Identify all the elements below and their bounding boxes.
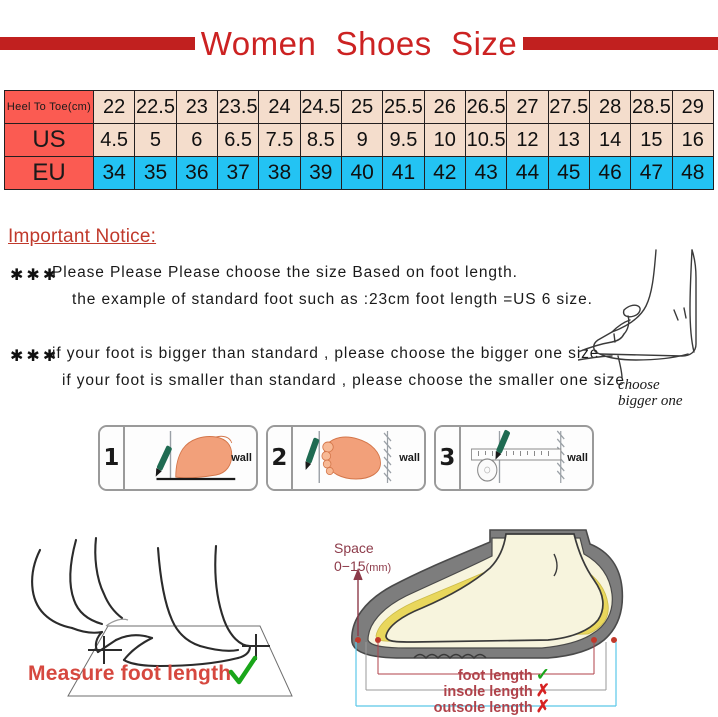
table-cell: 42 xyxy=(424,157,465,190)
table-cell: 28.5 xyxy=(631,91,672,124)
table-cell: 13 xyxy=(548,124,589,157)
table-cell: 46 xyxy=(589,157,630,190)
step-illustration-ruler: wall xyxy=(461,427,592,489)
step-panel-3: 3 xyxy=(434,425,594,491)
table-cell: 27.5 xyxy=(548,91,589,124)
row-header-eu: EU xyxy=(5,157,94,190)
notice-line: if your foot is bigger than standard , p… xyxy=(52,345,599,363)
table-cell: 23.5 xyxy=(217,91,258,124)
step-panel-1: 1 wall xyxy=(98,425,258,491)
step-number: 2 xyxy=(268,427,293,489)
table-cell: 9 xyxy=(341,124,382,157)
space-label-line1: Space xyxy=(334,540,391,558)
choose-bigger-line1: choose xyxy=(618,377,660,393)
table-cell: 48 xyxy=(672,157,713,190)
step-panel-2: 2 xyxy=(266,425,426,491)
table-cell: 40 xyxy=(341,157,382,190)
notice-line: the example of standard foot such as :23… xyxy=(72,291,593,309)
table-cell: 47 xyxy=(631,157,672,190)
step-number: 1 xyxy=(100,427,125,489)
cross-icon: ✗ xyxy=(536,697,550,716)
table-cell: 24.5 xyxy=(300,91,341,124)
table-cell: 7.5 xyxy=(259,124,300,157)
table-cell: 39 xyxy=(300,157,341,190)
step-number: 3 xyxy=(436,427,461,489)
table-cell: 6 xyxy=(176,124,217,157)
table-cell: 9.5 xyxy=(383,124,424,157)
table-row: Heel To Toe(cm) 22 22.5 23 23.5 24 24.5 … xyxy=(5,91,714,124)
table-cell: 10 xyxy=(424,124,465,157)
title-rule-right xyxy=(523,37,718,50)
title-rule-left xyxy=(0,37,195,50)
important-notice-heading: Important Notice: xyxy=(8,226,156,248)
wall-label: wall xyxy=(567,452,588,464)
table-cell: 26.5 xyxy=(465,91,506,124)
table-cell: 41 xyxy=(383,157,424,190)
measurement-steps: 1 wall 2 xyxy=(98,425,594,491)
table-cell: 16 xyxy=(672,124,713,157)
table-cell: 23 xyxy=(176,91,217,124)
space-label-unit: (mm) xyxy=(366,562,392,574)
notice-line: Please Please Please choose the size Bas… xyxy=(52,264,518,282)
table-cell: 8.5 xyxy=(300,124,341,157)
table-cell: 35 xyxy=(135,157,176,190)
page-title: Women Shoes Size xyxy=(195,27,524,60)
table-cell: 25 xyxy=(341,91,382,124)
table-cell: 24 xyxy=(259,91,300,124)
size-conversion-table: Heel To Toe(cm) 22 22.5 23 23.5 24 24.5 … xyxy=(4,90,714,190)
choose-bigger-line2: bigger one xyxy=(618,393,683,409)
table-cell: 26 xyxy=(424,91,465,124)
step-illustration-foot-side: wall xyxy=(125,427,256,489)
space-clearance-label: Space 0−15(mm) xyxy=(334,540,391,575)
page-title-bar: Women Shoes Size xyxy=(0,18,718,68)
row-header-us: US xyxy=(5,124,94,157)
table-cell: 45 xyxy=(548,157,589,190)
table-cell: 28 xyxy=(589,91,630,124)
table-cell: 4.5 xyxy=(94,124,135,157)
wall-label: wall xyxy=(231,452,252,464)
table-cell: 27 xyxy=(507,91,548,124)
row-header-heel-to-toe: Heel To Toe(cm) xyxy=(5,91,94,124)
table-cell: 38 xyxy=(259,157,300,190)
table-cell: 5 xyxy=(135,124,176,157)
table-cell: 29 xyxy=(672,91,713,124)
table-cell: 22 xyxy=(94,91,135,124)
foot-outline-icon xyxy=(578,248,718,398)
wall-label: wall xyxy=(399,452,420,464)
table-row: EU 34 35 36 37 38 39 40 41 42 43 44 45 4… xyxy=(5,157,714,190)
table-row: US 4.5 5 6 6.5 7.5 8.5 9 9.5 10 10.5 12 … xyxy=(5,124,714,157)
table-cell: 43 xyxy=(465,157,506,190)
table-cell: 14 xyxy=(589,124,630,157)
table-cell: 12 xyxy=(507,124,548,157)
table-cell: 6.5 xyxy=(217,124,258,157)
space-label-line2: 0−15 xyxy=(334,558,366,574)
choose-bigger-one-label: choosebigger one xyxy=(618,378,683,410)
table-cell: 44 xyxy=(507,157,548,190)
measure-foot-length-caption: Measure foot length xyxy=(28,662,231,686)
table-cell: 36 xyxy=(176,157,217,190)
green-check-icon xyxy=(228,655,258,689)
table-cell: 15 xyxy=(631,124,672,157)
table-cell: 22.5 xyxy=(135,91,176,124)
table-cell: 25.5 xyxy=(383,91,424,124)
table-cell: 10.5 xyxy=(465,124,506,157)
step-illustration-foot-top: wall xyxy=(293,427,424,489)
notice-line: if your foot is smaller than standard , … xyxy=(62,372,625,390)
measure-foot-illustration xyxy=(10,528,320,714)
outsole-length-label: outsole length✗ xyxy=(350,697,550,717)
table-cell: 34 xyxy=(94,157,135,190)
table-cell: 37 xyxy=(217,157,258,190)
